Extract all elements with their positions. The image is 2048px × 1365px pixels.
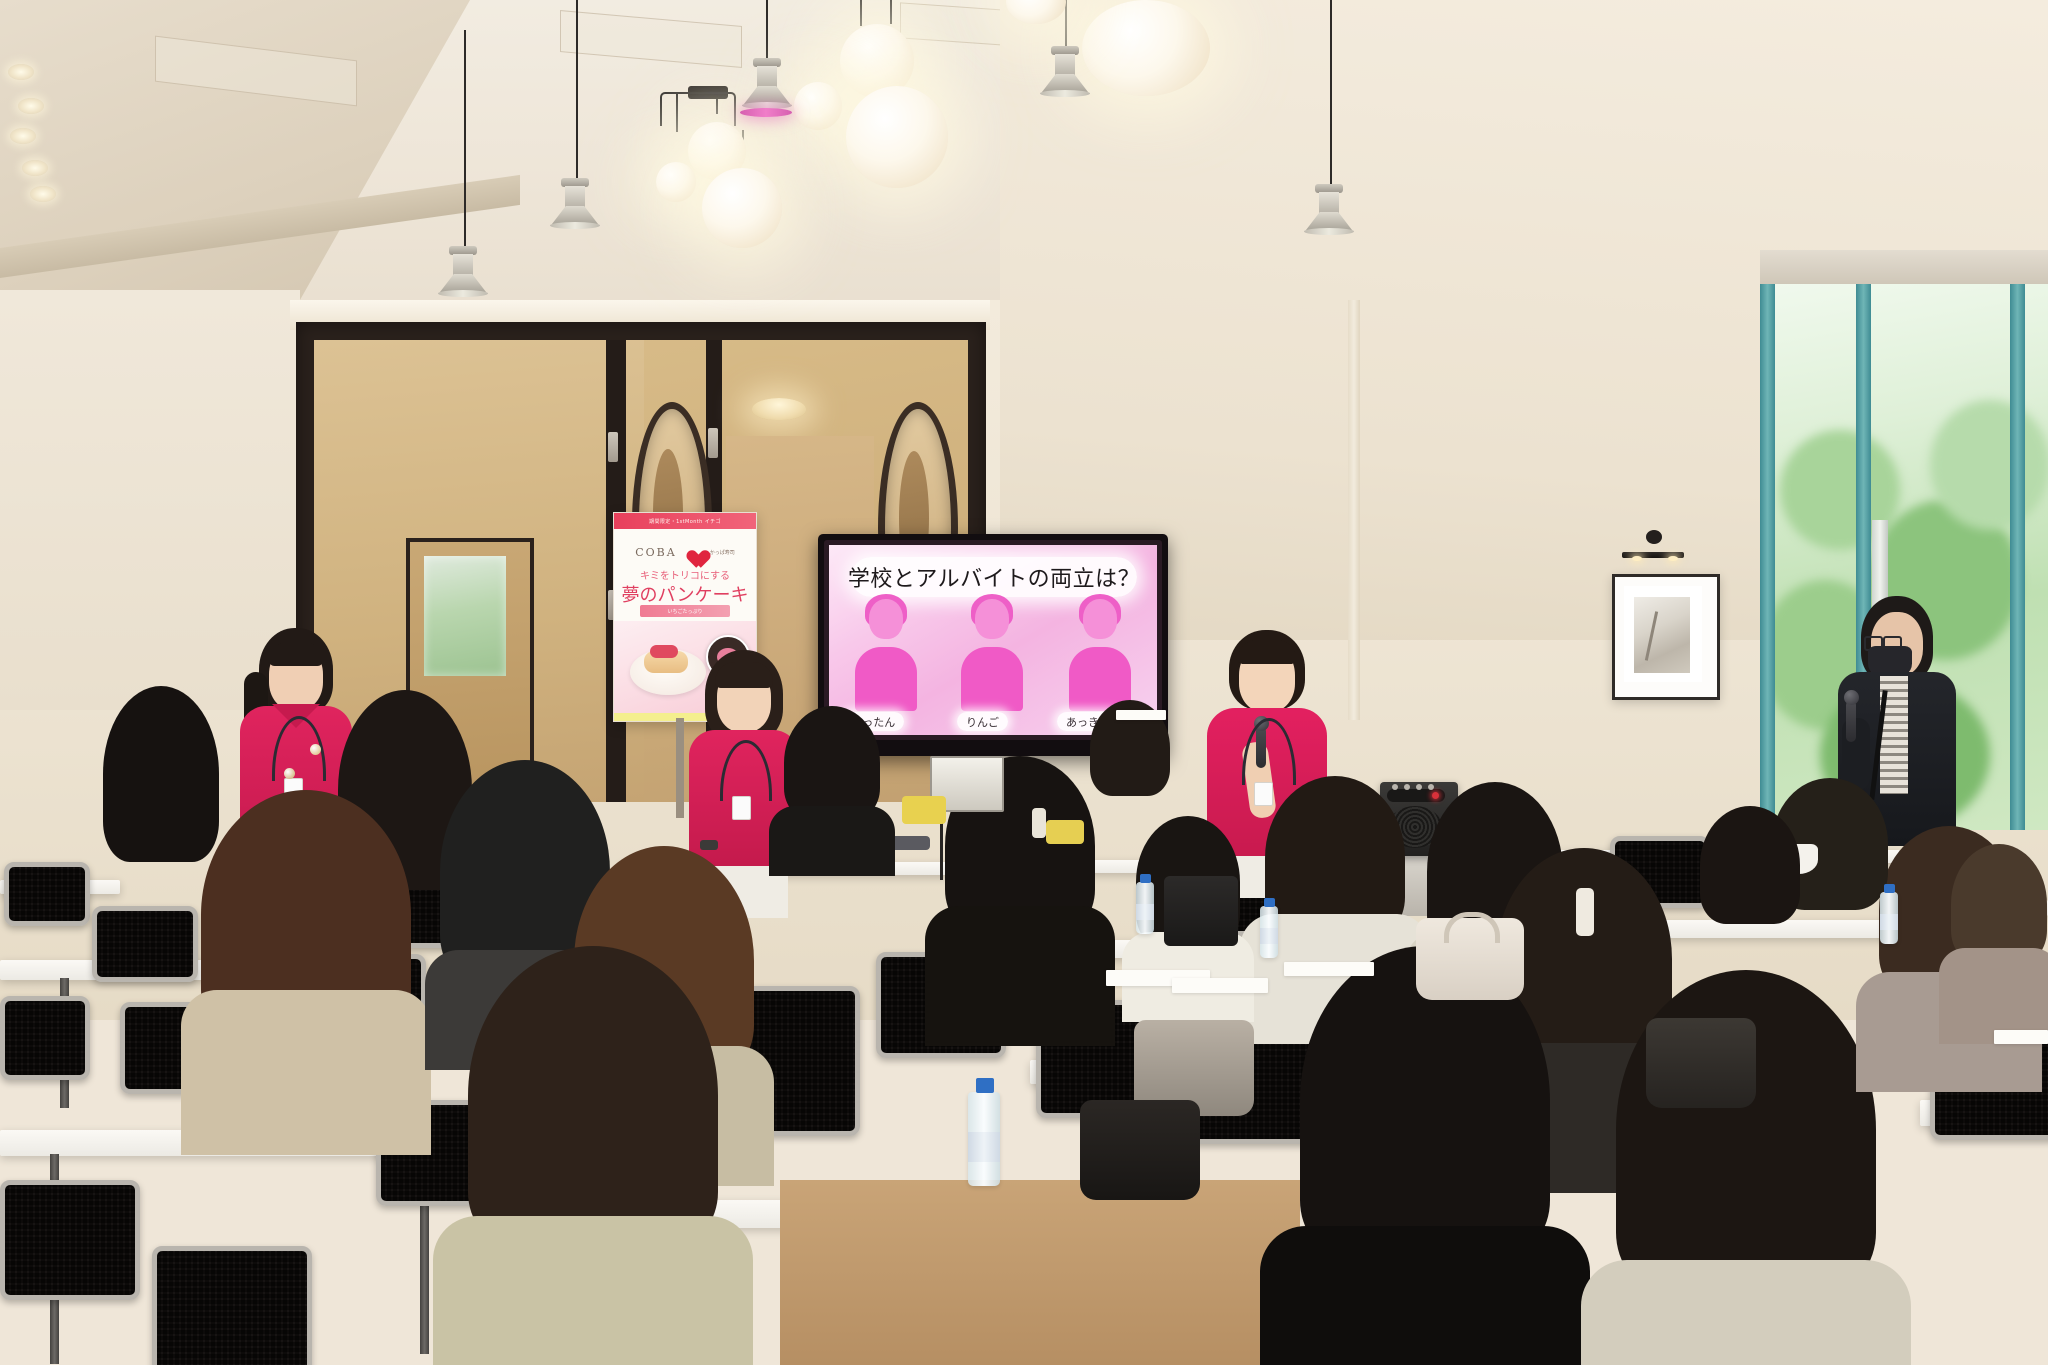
torso bbox=[1581, 1260, 1911, 1365]
torso bbox=[181, 990, 431, 1155]
artwork-image bbox=[1634, 597, 1690, 673]
industrial-pendant bbox=[552, 178, 598, 232]
audience-member bbox=[186, 790, 426, 1120]
pin-badge-icon bbox=[284, 768, 295, 779]
window-header bbox=[1760, 250, 2048, 284]
pin-badge-icon bbox=[310, 744, 321, 755]
bottle-cap bbox=[1140, 874, 1151, 883]
recessed-light bbox=[22, 160, 48, 176]
bag bbox=[1646, 1018, 1756, 1108]
fixture-ring bbox=[1304, 228, 1354, 235]
torso bbox=[433, 1216, 753, 1365]
fixture-body bbox=[757, 66, 777, 88]
pink-accent-light bbox=[740, 108, 792, 117]
torso bbox=[925, 906, 1115, 1046]
water-bottle[interactable] bbox=[968, 1092, 1000, 1186]
door-hinge bbox=[708, 428, 718, 458]
water-bottle[interactable] bbox=[1260, 906, 1278, 958]
water-bottle[interactable] bbox=[1880, 892, 1898, 944]
chair[interactable] bbox=[0, 1180, 130, 1290]
fixture-ring bbox=[438, 290, 488, 297]
photo-scene: 期間限定・1stMonth イチゴ COBA かっぱ寿司 キミをトリコにする 夢… bbox=[0, 0, 2048, 1365]
poster-brand: COBA bbox=[635, 546, 676, 559]
chair-back bbox=[4, 862, 90, 926]
fixture-body bbox=[453, 254, 473, 276]
foliage bbox=[1930, 400, 2048, 530]
poster-ribbon: いちごたっぷり bbox=[640, 605, 730, 617]
torso bbox=[1260, 1226, 1590, 1365]
handbag bbox=[1164, 876, 1238, 946]
recessed-light bbox=[18, 98, 44, 114]
slide-title: 学校とアルバイトの両立は？ bbox=[848, 561, 1140, 593]
audience-member bbox=[1944, 844, 2048, 1024]
chair[interactable] bbox=[0, 996, 80, 1070]
torso bbox=[769, 806, 895, 876]
window-mullion bbox=[1760, 250, 1775, 830]
audience-member bbox=[448, 946, 738, 1365]
microphone-head-icon bbox=[1844, 690, 1859, 705]
globe-light bbox=[656, 162, 696, 202]
fringe bbox=[1238, 640, 1296, 664]
chair-back bbox=[152, 1246, 312, 1365]
bottle-cap bbox=[1884, 884, 1895, 893]
wall-sconce bbox=[752, 398, 806, 420]
poster-headline: 夢のパンケーキ bbox=[614, 581, 756, 607]
bottle-cap bbox=[976, 1078, 994, 1093]
industrial-pendant bbox=[1042, 46, 1088, 100]
fixture-ring bbox=[550, 222, 600, 229]
recessed-light bbox=[30, 186, 56, 202]
fringe bbox=[269, 642, 323, 666]
fringe bbox=[715, 662, 773, 688]
fixture-body bbox=[1055, 54, 1075, 76]
hair bbox=[1700, 806, 1800, 924]
slide-person-head bbox=[1083, 599, 1117, 639]
framed-artwork bbox=[1612, 574, 1720, 700]
heart-icon bbox=[683, 543, 704, 562]
hair bbox=[1951, 844, 2047, 964]
industrial-pendant bbox=[1306, 184, 1352, 238]
fixture-body bbox=[1319, 192, 1339, 214]
slide-person-1 bbox=[847, 599, 925, 711]
pendant-cord bbox=[860, 0, 862, 26]
yellow-item bbox=[1046, 820, 1084, 844]
recessed-light bbox=[10, 128, 36, 144]
poster-tagline: キミをトリコにする bbox=[614, 567, 756, 582]
bottle-cap bbox=[1264, 898, 1275, 907]
bottle-label bbox=[1260, 928, 1278, 944]
recessed-light bbox=[8, 64, 34, 80]
handout-paper[interactable] bbox=[1994, 1030, 2048, 1044]
slide-person-body bbox=[961, 647, 1023, 711]
slide-person-2 bbox=[953, 599, 1031, 711]
chair[interactable] bbox=[152, 1246, 302, 1365]
poster-top-banner: 期間限定・1stMonth イチゴ bbox=[614, 513, 756, 529]
picture-light-glow bbox=[1632, 556, 1642, 561]
handout-paper[interactable] bbox=[1284, 962, 1374, 976]
slide-name-text: りんご bbox=[966, 714, 999, 730]
bottle-label bbox=[1136, 904, 1154, 920]
pendant-cord bbox=[1065, 0, 1067, 50]
globe-light bbox=[846, 86, 948, 188]
picture-light-mount bbox=[1646, 530, 1662, 544]
floor-wood bbox=[780, 1180, 1300, 1365]
yellow-item bbox=[902, 796, 946, 824]
hair-clip-icon bbox=[1032, 808, 1046, 838]
window-mullion bbox=[2010, 250, 2025, 830]
industrial-pendant bbox=[744, 58, 790, 112]
hair bbox=[468, 946, 718, 1246]
slide-name-label-2: りんご bbox=[957, 712, 1008, 731]
pendant-cord bbox=[464, 30, 466, 250]
pendant-cord bbox=[766, 0, 768, 62]
strawberry-topping bbox=[650, 645, 678, 658]
pendant-cord bbox=[576, 0, 578, 182]
poster-ribbon-text: いちごたっぷり bbox=[667, 608, 702, 615]
audience-member bbox=[1280, 946, 1570, 1365]
wall-column bbox=[1348, 300, 1360, 720]
globe-light bbox=[702, 168, 782, 248]
slide-title-pill: 学校とアルバイトの両立は？ bbox=[851, 557, 1137, 597]
bottle-label bbox=[968, 1132, 1000, 1162]
audience-member bbox=[772, 706, 892, 856]
handout-paper[interactable] bbox=[1116, 710, 1166, 720]
pendant-cord bbox=[1330, 0, 1332, 188]
slide-person-head bbox=[869, 599, 903, 639]
poster-brand-sub: かっぱ寿司 bbox=[710, 549, 735, 556]
handout-paper[interactable] bbox=[1172, 978, 1268, 993]
poster-logo-row: COBA かっぱ寿司 bbox=[614, 539, 756, 565]
chair[interactable] bbox=[4, 862, 80, 916]
poster-banner-text: 期間限定・1stMonth イチゴ bbox=[649, 518, 721, 525]
slide-person-head bbox=[975, 599, 1009, 639]
slide-person-3 bbox=[1061, 599, 1139, 711]
door-hinge bbox=[608, 432, 618, 462]
poster-stand-leg bbox=[676, 718, 684, 818]
bottle-label bbox=[1880, 914, 1898, 930]
industrial-pendant bbox=[440, 246, 486, 300]
name-badge bbox=[732, 796, 751, 820]
picture-light-glow bbox=[1668, 556, 1678, 561]
bag bbox=[1080, 1100, 1200, 1200]
globe-light bbox=[1082, 0, 1210, 96]
pendant-cord bbox=[890, 0, 892, 24]
slide-person-body bbox=[855, 647, 917, 711]
hair-clip-icon bbox=[1576, 888, 1594, 936]
microphone[interactable] bbox=[1846, 700, 1856, 742]
water-bottle[interactable] bbox=[1136, 882, 1154, 934]
chair-back bbox=[0, 996, 90, 1080]
audience-member bbox=[1690, 806, 1810, 966]
chair-back bbox=[92, 906, 198, 982]
fixture-ring bbox=[1040, 90, 1090, 97]
fixture-body bbox=[565, 186, 585, 208]
globe-light bbox=[794, 82, 842, 130]
hair bbox=[784, 706, 880, 820]
door-glass bbox=[424, 556, 506, 676]
chair[interactable] bbox=[92, 906, 188, 972]
chair-back bbox=[0, 1180, 140, 1300]
pendant-arm bbox=[660, 92, 736, 126]
